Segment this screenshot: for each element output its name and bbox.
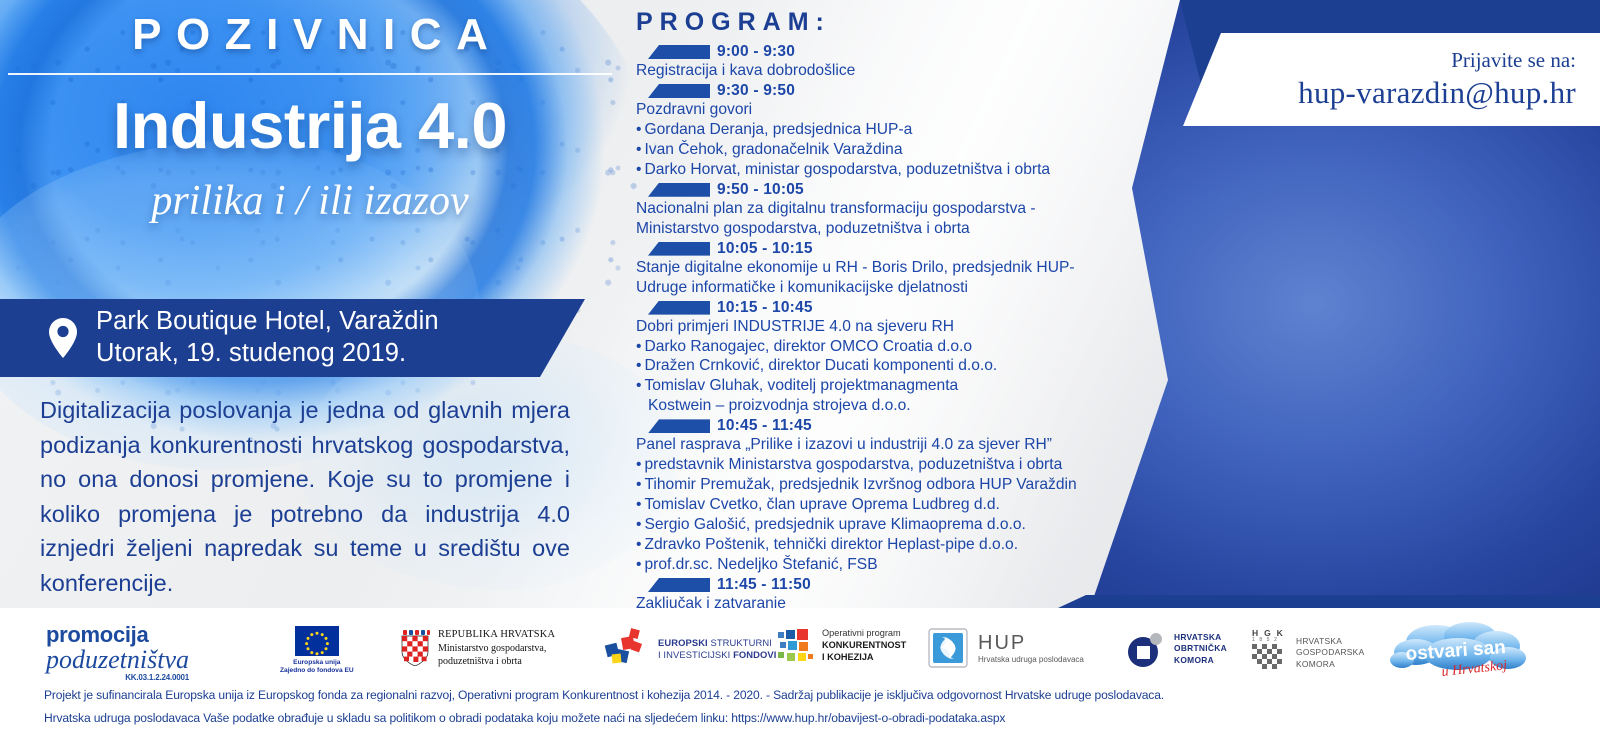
logo-row: promocija poduzetništva KK.03.1.2.24.000… [0,614,1600,686]
venue-name: Park Boutique Hotel, Varaždin [96,306,439,338]
footer-blue-strip [1058,595,1600,608]
invitation-poster: POZIVNICA Industrija 4.0 prilika i / ili… [0,0,1600,756]
esi-line2-bold: FONDOVI [733,649,776,660]
esi-line1: EUROPSKI STRUKTURNI [658,637,777,649]
hgk-line2: GOSPODARSKA [1296,647,1364,658]
bullet-icon: • [636,161,641,178]
list-item: •Zdravko Poštenik, tehnički direktor Hep… [636,535,1106,555]
bullet-icon: • [636,121,641,138]
promocija-line2: poduzetništva [46,645,189,675]
program-slot-time: 9:30 - 9:50 [717,82,795,100]
list-item: •Tomislav Cvetko, član uprave Oprema Lud… [636,495,1106,515]
bullet-icon: • [636,377,641,394]
bullet-icon: • [636,496,641,513]
speaker-name: Dražen Crnković, direktor Ducati kompone… [644,357,997,374]
program-slot-time: 10:45 - 11:45 [717,417,812,435]
hok-line3: KOMORA [1174,655,1227,666]
bullet-icon: • [636,338,641,355]
logo-hgk: H G K 1 8 5 2 HRVATSKA GOSPOD [1252,628,1364,670]
logo-promocija-poduzetnistva: promocija poduzetništva KK.03.1.2.24.000… [46,622,189,682]
list-item: •Ivan Čehok, gradonačelnik Varaždina [636,140,1106,160]
program-slot-time: 11:45 - 11:50 [717,576,811,594]
program-slot-time: 10:05 - 10:15 [717,240,813,258]
esi-line2-rest: I INVESTICIJSKI [658,649,730,660]
esi-line1-bold: EUROPSKI [658,637,708,648]
program-slot-description: Panel rasprava „Prilike i izazovi u indu… [636,435,1106,455]
program-slot-time-row: 9:50 - 10:05 [648,181,1106,199]
time-badge-icon [648,242,710,256]
esi-line2: I INVESTICIJSKI FONDOVI [658,649,777,661]
list-item: •Tihomir Premužak, predsjednik Izvršnog … [636,475,1106,495]
promocija-code: KK.03.1.2.24.0001 [46,673,189,682]
program-slot-description: Pozdravni govori [636,100,1106,120]
esi-text: EUROPSKI STRUKTURNI I INVESTICIJSKI FOND… [658,637,777,661]
event-title: Industrija 4.0 [0,88,620,163]
rh-line1: REPUBLIKA HRVATSKA [438,628,555,642]
location-banner: Park Boutique Hotel, Varaždin Utorak, 19… [0,299,585,377]
eu-caption-line2: Zajedno do fondova EU [280,667,354,675]
hgk-text: HRVATSKA GOSPODARSKA KOMORA [1296,636,1364,670]
croatia-coat-of-arms-icon [400,630,430,666]
program-slot-time-row: 10:15 - 10:45 [648,299,1106,317]
hok-mark-icon [1126,630,1166,668]
rh-line2: Ministarstvo gospodarstva, [438,642,555,655]
hok-line2: OBRTNIČKA [1174,643,1227,654]
program-speaker-list: •predstavnik Ministarstva gospodarstva, … [636,455,1106,575]
program-slot-time: 9:50 - 10:05 [717,181,804,199]
hgk-line1: HRVATSKA [1296,636,1364,647]
disclaimer-block: Projekt je sufinancirala Europska unija … [44,688,1564,734]
speaker-name: Tihomir Premužak, predsjednik Izvršnog o… [644,476,1076,493]
program-slot: 9:00 - 9:30Registracija i kava dobrodošl… [636,43,1106,81]
hup-name: HUP [978,632,1084,655]
time-badge-icon [648,419,710,433]
bullet-icon: • [636,357,641,374]
list-item: •Dražen Crnković, direktor Ducati kompon… [636,356,1106,376]
list-item: •Gordana Deranja, predsjednica HUP-a [636,120,1106,140]
event-date: Utorak, 19. studenog 2019. [96,338,439,370]
op-text: Operativni program KONKURENTNOST I KOHEZ… [822,628,906,664]
signup-banner: Prijavite se na: hup-varazdin@hup.hr [1183,33,1600,126]
signup-label: Prijavite se na: [1451,48,1576,73]
logo-operativni-program: Operativni program KONKURENTNOST I KOHEZ… [778,628,906,664]
eu-flag-icon [295,626,339,656]
list-item: •Darko Ranogajec, direktor OMCO Croatia … [636,337,1106,357]
hok-line1: HRVATSKA [1174,632,1227,643]
program-slot: 10:45 - 11:45Panel rasprava „Prilike i i… [636,417,1106,575]
esi-squares-icon [604,628,650,670]
list-item: •prof.dr.sc. Nedeljko Štefanić, FSB [636,555,1106,575]
program-slot-time: 9:00 - 9:30 [717,43,795,61]
headline-block: POZIVNICA Industrija 4.0 prilika i / ili… [0,10,620,225]
speaker-name: prof.dr.sc. Nedeljko Štefanić, FSB [644,556,877,573]
speaker-name: Sergio Galošić, predsjednik uprave Klima… [644,516,1025,533]
hgk-mark: H G K 1 8 5 2 [1252,628,1286,670]
list-item: •Sergio Galošić, predsjednik uprave Klim… [636,515,1106,535]
program-slot-time-row: 10:05 - 10:15 [648,240,1106,258]
speaker-name: Tomislav Cvetko, član uprave Oprema Ludb… [644,496,999,513]
logo-european-union: Europska unija Zajedno do fondova EU [280,626,354,675]
program-slot-time-row: 11:45 - 11:50 [648,576,1106,594]
esi-line1-rest: STRUKTURNI [711,637,772,648]
op-line1: Operativni program [822,628,906,640]
location-text: Park Boutique Hotel, Varaždin Utorak, 19… [96,306,439,369]
time-badge-icon [648,301,710,315]
hup-sub: Hrvatska udruga poslodavaca [978,655,1084,664]
list-item: •Darko Horvat, ministar gospodarstva, po… [636,160,1106,180]
bullet-icon: • [636,456,641,473]
title-divider [8,73,612,75]
hgk-year: 1 8 5 2 [1252,637,1279,643]
page-title: POZIVNICA [0,10,620,60]
program-slot: 10:05 - 10:15Stanje digitalne ekonomije … [636,240,1106,298]
logo-republika-hrvatska: REPUBLIKA HRVATSKA Ministarstvo gospodar… [400,628,555,668]
speaker-name: Darko Horvat, ministar gospodarstva, pod… [644,161,1050,178]
event-subtitle: prilika i / ili izazov [0,177,620,225]
program-slot-description: Registracija i kava dobrodošlice [636,61,1106,81]
intro-paragraph: Digitalizacija poslovanja je jedna od gl… [40,393,570,600]
ostvari-san-cloud-icon: ostvari san u Hrvatskoj [1388,620,1538,682]
bullet-icon: • [636,536,641,553]
bullet-icon: • [636,141,641,158]
speaker-name: Darko Ranogajec, direktor OMCO Croatia d… [644,338,972,355]
hgk-checkerboard-icon [1252,644,1286,670]
logo-ostvari-san: ostvari san u Hrvatskoj [1388,620,1538,682]
time-badge-icon [648,578,710,592]
speaker-name: Tomislav Gluhak, voditelj projektmanagme… [644,377,958,394]
eu-caption: Europska unija Zajedno do fondova EU [280,659,354,675]
op-mosaic-icon [778,628,814,664]
speaker-name: Gordana Deranja, predsjednica HUP-a [644,121,912,138]
list-item: •predstavnik Ministarstva gospodarstva, … [636,455,1106,475]
logo-hup: HUP Hrvatska udruga poslodavaca [928,628,1084,668]
rh-line3: poduzetništva i obrta [438,655,555,668]
program-slot-time-row: 10:45 - 11:45 [648,417,1106,435]
program-slot-list: 9:00 - 9:30Registracija i kava dobrodošl… [636,43,1106,673]
logo-esi-fondovi: EUROPSKI STRUKTURNI I INVESTICIJSKI FOND… [604,628,777,670]
program-slot-description: Dobri primjeri INDUSTRIJE 4.0 na sjeveru… [636,317,1106,337]
hup-text: HUP Hrvatska udruga poslodavaca [978,632,1084,664]
hgk-line3: KOMORA [1296,659,1364,670]
program-heading: PROGRAM: [636,8,1106,37]
speaker-name: Ivan Čehok, gradonačelnik Varaždina [644,141,902,158]
program-slot-description: Nacionalni plan za digitalnu transformac… [636,199,1106,239]
logo-hok: HRVATSKA OBRTNIČKA KOMORA [1126,630,1227,668]
hup-mark-icon [928,628,968,668]
disclaimer-line-2: Hrvatska udruga poslodavaca Vaše podatke… [44,711,1564,725]
rh-text: REPUBLIKA HRVATSKA Ministarstvo gospodar… [438,628,555,668]
program-slot: 9:50 - 10:05Nacionalni plan za digitalnu… [636,181,1106,239]
program-slot: 9:30 - 9:50Pozdravni govori•Gordana Dera… [636,82,1106,180]
list-item: •Tomislav Gluhak, voditelj projektmanagm… [636,376,1106,396]
bullet-icon: • [636,476,641,493]
op-line3: I KOHEZIJA [822,652,906,664]
time-badge-icon [648,45,710,59]
program-slot-time-row: 9:30 - 9:50 [648,82,1106,100]
program-section: PROGRAM: 9:00 - 9:30Registracija i kava … [636,8,1106,673]
program-speaker-list: •Gordana Deranja, predsjednica HUP-a•Iva… [636,120,1106,180]
signup-email[interactable]: hup-varazdin@hup.hr [1298,75,1576,111]
program-slot: 10:15 - 10:45Dobri primjeri INDUSTRIJE 4… [636,299,1106,417]
program-slot-continuation: Kostwein – proizvodnja strojeva d.o.o. [636,396,1106,416]
speaker-name: Zdravko Poštenik, tehnički direktor Hepl… [644,536,1018,553]
speaker-name: predstavnik Ministarstva gospodarstva, p… [644,456,1062,473]
time-badge-icon [648,84,710,98]
program-slot-time-row: 9:00 - 9:30 [648,43,1106,61]
program-speaker-list: •Darko Ranogajec, direktor OMCO Croatia … [636,337,1106,397]
time-badge-icon [648,183,710,197]
eu-caption-line1: Europska unija [280,659,354,667]
bullet-icon: • [636,516,641,533]
bullet-icon: • [636,556,641,573]
hok-text: HRVATSKA OBRTNIČKA KOMORA [1174,632,1227,666]
program-slot-description: Stanje digitalne ekonomije u RH - Boris … [636,258,1106,298]
program-slot-time: 10:15 - 10:45 [717,299,813,317]
map-pin-icon [48,318,78,358]
op-line2: KONKURENTNOST [822,640,906,652]
disclaimer-line-1: Projekt je sufinancirala Europska unija … [44,688,1564,702]
footer: promocija poduzetništva KK.03.1.2.24.000… [0,608,1600,756]
